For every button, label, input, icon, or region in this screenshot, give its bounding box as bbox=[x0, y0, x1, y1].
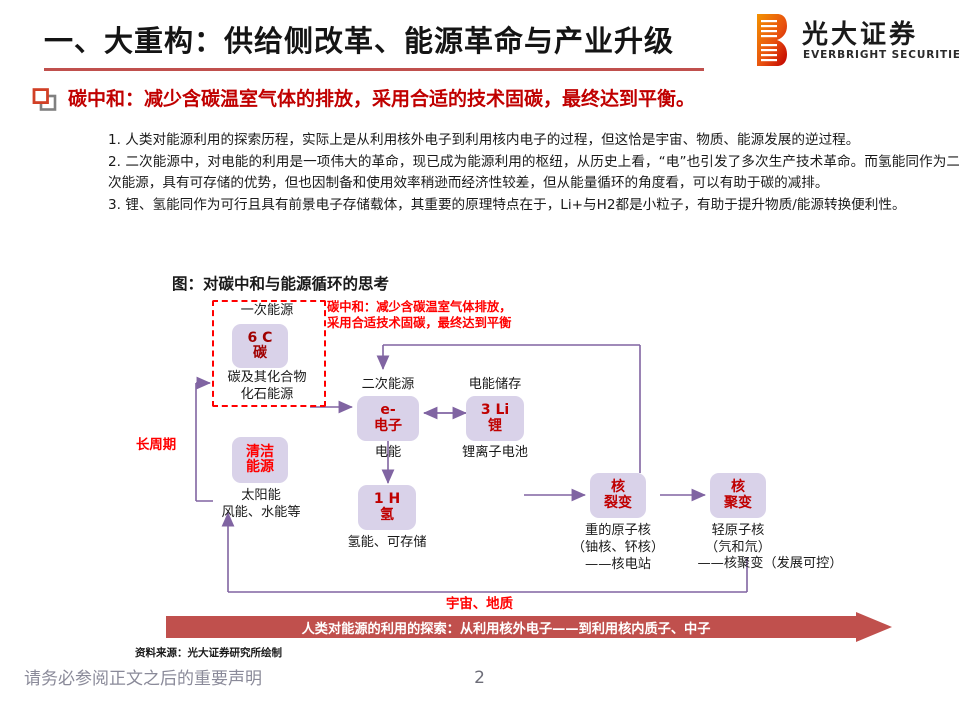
double-square-bullet-icon bbox=[32, 88, 58, 111]
box-electron: e- 电子 bbox=[357, 396, 419, 441]
box-fission-line1: 核 bbox=[611, 480, 625, 495]
label-fusion-desc-l2: （氕和氘） bbox=[705, 540, 771, 555]
paragraph-2: 2. 二次能源中，对电能的利用是一项伟大的革命，现已成为能源利用的枢纽，从历史上… bbox=[108, 152, 959, 195]
page-number: 2 bbox=[0, 668, 959, 688]
label-clean-desc: 太阳能 风能、水能等 bbox=[198, 487, 324, 521]
logo-chinese-name: 光大证券 bbox=[802, 14, 918, 51]
paragraph-3: 3. 锂、氢能同作为可行且具有前景电子存储载体，其重要的原理特点在于，Li+与H… bbox=[108, 195, 959, 217]
box-carbon: 6 C 碳 bbox=[232, 324, 288, 368]
section-subtitle-text: 碳中和：减少含碳温室气体的排放，采用合适的技术固碳，最终达到平衡。 bbox=[68, 84, 695, 111]
label-power-storage: 电能储存 bbox=[440, 377, 550, 394]
body-paragraphs: 1. 人类对能源利用的探索历程，实际上是从利用核外电子到利用核内电子的过程，但这… bbox=[108, 130, 959, 216]
figure-source: 资料来源：光大证券研究所绘制 bbox=[135, 645, 282, 660]
box-hydrogen: 1 H 氢 bbox=[358, 485, 416, 530]
box-carbon-line1: 6 C bbox=[248, 331, 273, 346]
box-hydrogen-line2: 氢 bbox=[380, 508, 394, 523]
label-li-battery: 锂离子电池 bbox=[437, 445, 553, 462]
label-fission-desc-l1: 重的原子核 bbox=[585, 523, 651, 538]
header-divider bbox=[44, 68, 704, 71]
paragraph-1: 1. 人类对能源利用的探索历程，实际上是从利用核外电子到利用核内电子的过程，但这… bbox=[108, 130, 959, 152]
box-lithium-line1: 3 Li bbox=[481, 403, 509, 418]
box-clean-line2: 能源 bbox=[246, 460, 274, 475]
box-fusion-line2: 聚变 bbox=[724, 496, 752, 511]
label-universe-geology: 宇宙、地质 bbox=[0, 592, 959, 612]
label-electricity: 电能 bbox=[343, 445, 433, 462]
box-electron-line1: e- bbox=[380, 403, 395, 418]
label-fission-desc-l2: （铀核、钚核） bbox=[572, 540, 664, 555]
box-fission-line2: 裂变 bbox=[604, 496, 632, 511]
label-carbon-desc-l1: 碳及其化合物 bbox=[227, 370, 306, 385]
box-clean-energy: 清洁 能源 bbox=[232, 437, 288, 483]
label-clean-desc-l1: 太阳能 bbox=[241, 488, 281, 503]
label-long-cycle: 长周期 bbox=[136, 433, 176, 453]
label-secondary-energy: 二次能源 bbox=[333, 377, 443, 394]
callout-line1: 碳中和：减少含碳温室气体排放， bbox=[327, 300, 511, 314]
label-fission-desc-l3: ——核电站 bbox=[585, 557, 651, 572]
callout-line2: 采用合适技术固碳，最终达到平衡 bbox=[327, 316, 511, 330]
energy-cycle-diagram: 一次能源 6 C 碳 碳及其化合物 化石能源 清洁 能源 太阳能 风能、水能等 … bbox=[0, 295, 959, 655]
label-carbon-desc-l2: 化石能源 bbox=[241, 387, 294, 402]
box-fusion: 核 聚变 bbox=[710, 473, 766, 518]
bottom-timeline-banner: 人类对能源的利用的探索：从利用核外电子——到利用核内质子、中子 bbox=[166, 612, 892, 642]
box-hydrogen-line1: 1 H bbox=[374, 492, 400, 507]
box-fusion-line1: 核 bbox=[731, 480, 745, 495]
everbright-logo-icon bbox=[757, 14, 787, 66]
slide-header: 一、大重构：供给侧改革、能源革命与产业升级 bbox=[0, 0, 959, 80]
label-clean-desc-l2: 风能、水能等 bbox=[221, 505, 300, 520]
figure-title: 图：对碳中和与能源循环的思考 bbox=[172, 272, 389, 294]
label-primary-energy: 一次能源 bbox=[212, 303, 322, 320]
box-carbon-line2: 碳 bbox=[253, 346, 267, 361]
callout-carbon-neutral: 碳中和：减少含碳温室气体排放， 采用合适技术固碳，最终达到平衡 bbox=[327, 299, 511, 331]
box-lithium: 3 Li 锂 bbox=[466, 396, 524, 441]
box-electron-line2: 电子 bbox=[374, 419, 402, 434]
box-fission: 核 裂变 bbox=[590, 473, 646, 518]
page-title: 一、大重构：供给侧改革、能源革命与产业升级 bbox=[44, 18, 674, 60]
banner-text: 人类对能源的利用的探索：从利用核外电子——到利用核内质子、中子 bbox=[166, 612, 846, 642]
box-clean-line1: 清洁 bbox=[246, 445, 274, 460]
label-carbon-desc: 碳及其化合物 化石能源 bbox=[202, 370, 332, 403]
box-lithium-line2: 锂 bbox=[488, 419, 502, 434]
brand-logo: 光大证券 EVERBRIGHT SECURITIES bbox=[757, 14, 953, 69]
label-fusion-desc: 轻原子核 （氕和氘） bbox=[668, 522, 808, 556]
logo-english-name: EVERBRIGHT SECURITIES bbox=[803, 49, 959, 61]
label-fusion-desc-l1: 轻原子核 bbox=[712, 523, 765, 538]
slide-root: 一、大重构：供给侧改革、能源革命与产业升级 bbox=[0, 0, 959, 719]
label-hydrogen-desc: 氢能、可存储 bbox=[329, 535, 445, 552]
label-fusion-note: ——核聚变（发展可控） bbox=[660, 556, 880, 573]
